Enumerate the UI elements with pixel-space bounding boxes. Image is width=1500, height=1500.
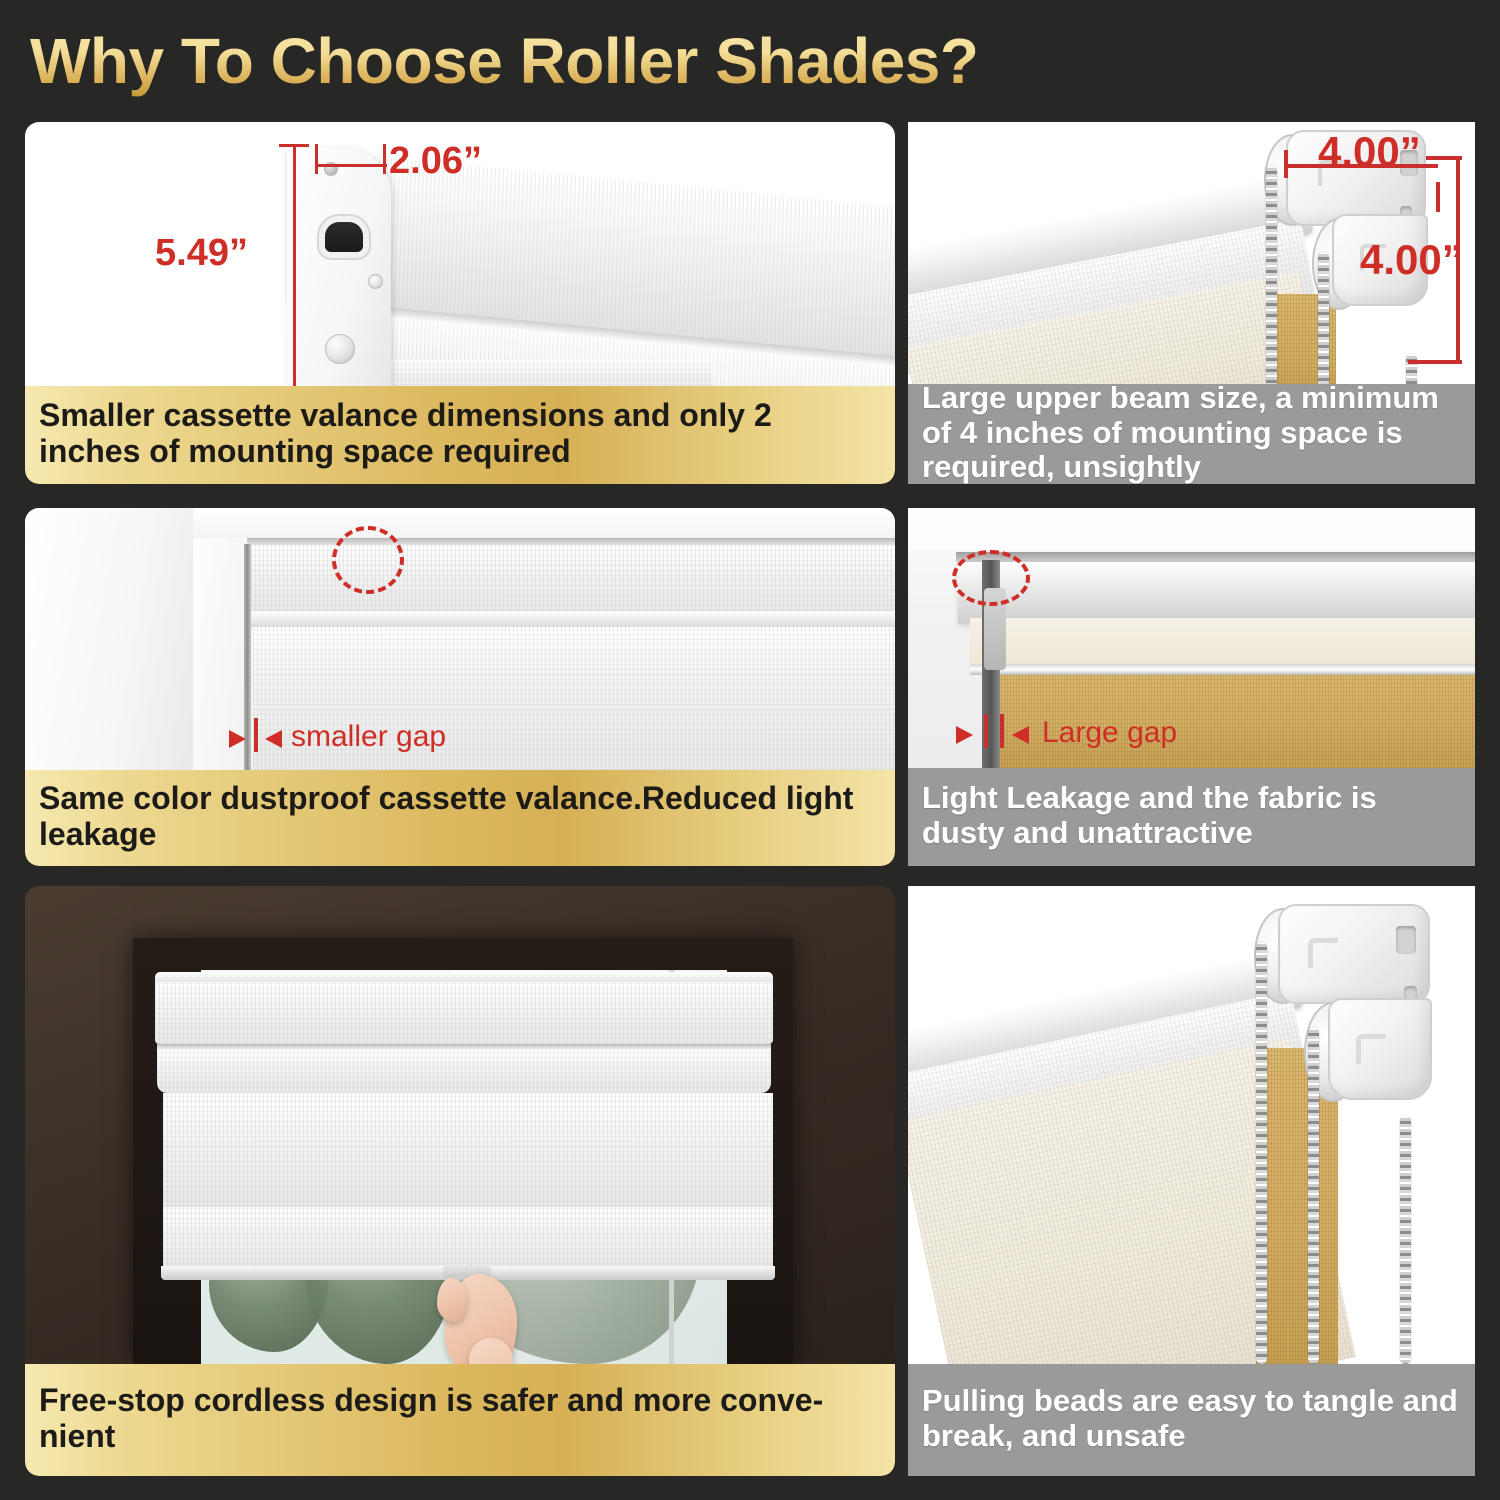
panel-2-caption-text: Large upper beam size, a minimum of 4 in… [922, 381, 1461, 484]
bead-chain-left [1266, 166, 1277, 384]
valance-shadow-line [157, 1044, 771, 1051]
panel-5-caption-text: Free-stop cordless design is safer and m… [39, 1383, 881, 1455]
large-gap-label: Large gap [1042, 716, 1177, 750]
gap-arrow-left [956, 726, 973, 744]
bracket-hook-glyph-upper [1308, 938, 1338, 968]
clutch-opening [325, 222, 363, 252]
panel-1-caption-text: Smaller cassette valance dimensions and … [39, 398, 881, 470]
width-dim-label: 2.06” [389, 140, 482, 183]
gap-arrow-right [1012, 726, 1029, 744]
panel-light-leakage: Large gap Light Leakage and the fabric i… [908, 508, 1475, 866]
beam-width-label: 4.00” [1318, 128, 1421, 176]
bead-chain-right [1400, 1116, 1411, 1364]
panel-4-caption: Light Leakage and the fabric is dusty an… [908, 768, 1475, 866]
gap-tick-left [984, 714, 988, 748]
header-rail-top [956, 552, 1475, 562]
panel-1-caption: Smaller cassette valance dimensions and … [25, 386, 895, 484]
cassette-valance-face [155, 982, 773, 1044]
page-title: Why To Choose Roller Shades? [30, 22, 1130, 100]
valance-bottom-lip [249, 611, 895, 627]
window-head-casing [193, 508, 895, 538]
panel-6-image [908, 886, 1475, 1364]
header-rail-bottom-edge [970, 664, 1475, 675]
wall-surface [908, 508, 1475, 550]
gap-tick-right [1000, 714, 1004, 748]
width-dim-leader-right [383, 144, 386, 174]
panel-pulling-beads: Pulling beads are easy to tangle and bre… [908, 886, 1475, 1476]
panel-smaller-cassette: 2.06” 5.49” Smaller cassette valance dim… [25, 122, 895, 484]
bracket-slot-a [1396, 926, 1416, 954]
beam-width-tick-left [1284, 150, 1288, 178]
panel-6-caption: Pulling beads are easy to tangle and bre… [908, 1364, 1475, 1476]
width-dim-bar [315, 164, 387, 167]
bead-chain-mid [1318, 252, 1329, 384]
panel-3-caption: Same color dustproof cassette valance.Re… [25, 770, 895, 866]
panel-2-caption: Large upper beam size, a minimum of 4 in… [908, 384, 1475, 484]
width-dim-leader-left [315, 144, 318, 174]
panel-3-caption-text: Same color dustproof cassette valance.Re… [39, 781, 881, 853]
thumb [437, 1278, 467, 1322]
panel-4-caption-text: Light Leakage and the fabric is dusty an… [922, 781, 1461, 850]
panel-2-image: 4.00” 4.00” [908, 122, 1475, 384]
screw-head-lower [325, 334, 355, 364]
beam-width-tick-right [1436, 182, 1440, 212]
panel-5-caption: Free-stop cordless design is safer and m… [25, 1364, 895, 1476]
gap-arrow-left [229, 730, 246, 748]
panel-6-caption-text: Pulling beads are easy to tangle and bre… [922, 1384, 1461, 1453]
panel-large-upper-beam: 4.00” 4.00” Large upper beam size, a min… [908, 122, 1475, 484]
header-rail-cream-band [970, 618, 1475, 664]
panel-dustproof-cassette: smaller gap Same color dustproof cassett… [25, 508, 895, 866]
screw-head-mid [368, 274, 383, 289]
header-rail-tube [958, 562, 1475, 624]
gap-arrow-right [265, 730, 282, 748]
fabric-seam-line [253, 704, 895, 707]
beam-height-tick-top [1426, 156, 1462, 160]
gap-highlight-ellipse [952, 550, 1030, 606]
panel-3-image: smaller gap [25, 508, 895, 770]
height-dim-label: 5.49” [155, 232, 248, 275]
gap-tick [254, 718, 258, 752]
beam-height-label: 4.00” [1360, 236, 1463, 284]
gap-highlight-ellipse [332, 526, 404, 594]
height-dim-bar [293, 144, 296, 386]
panel-5-image [25, 886, 895, 1364]
bead-chain-left [1256, 942, 1267, 1364]
window-jamb-left [25, 508, 195, 770]
bracket-hook-glyph-lower [1356, 1034, 1386, 1064]
bead-chain-mid [1308, 1028, 1319, 1364]
beam-height-tick-bottom [1408, 360, 1462, 364]
valance-top-cap [155, 972, 773, 982]
panel-4-image: Large gap [908, 508, 1475, 768]
panel-free-stop-cordless: Free-stop cordless design is safer and m… [25, 886, 895, 1476]
panel-1-image: 2.06” 5.49” [25, 122, 895, 386]
roller-shade-fabric [163, 1093, 773, 1207]
height-dim-tick-top [279, 144, 309, 147]
valance-lower-roll [157, 1051, 771, 1093]
roller-shade-fabric-lower [163, 1207, 773, 1269]
smaller-gap-label: smaller gap [291, 720, 446, 754]
